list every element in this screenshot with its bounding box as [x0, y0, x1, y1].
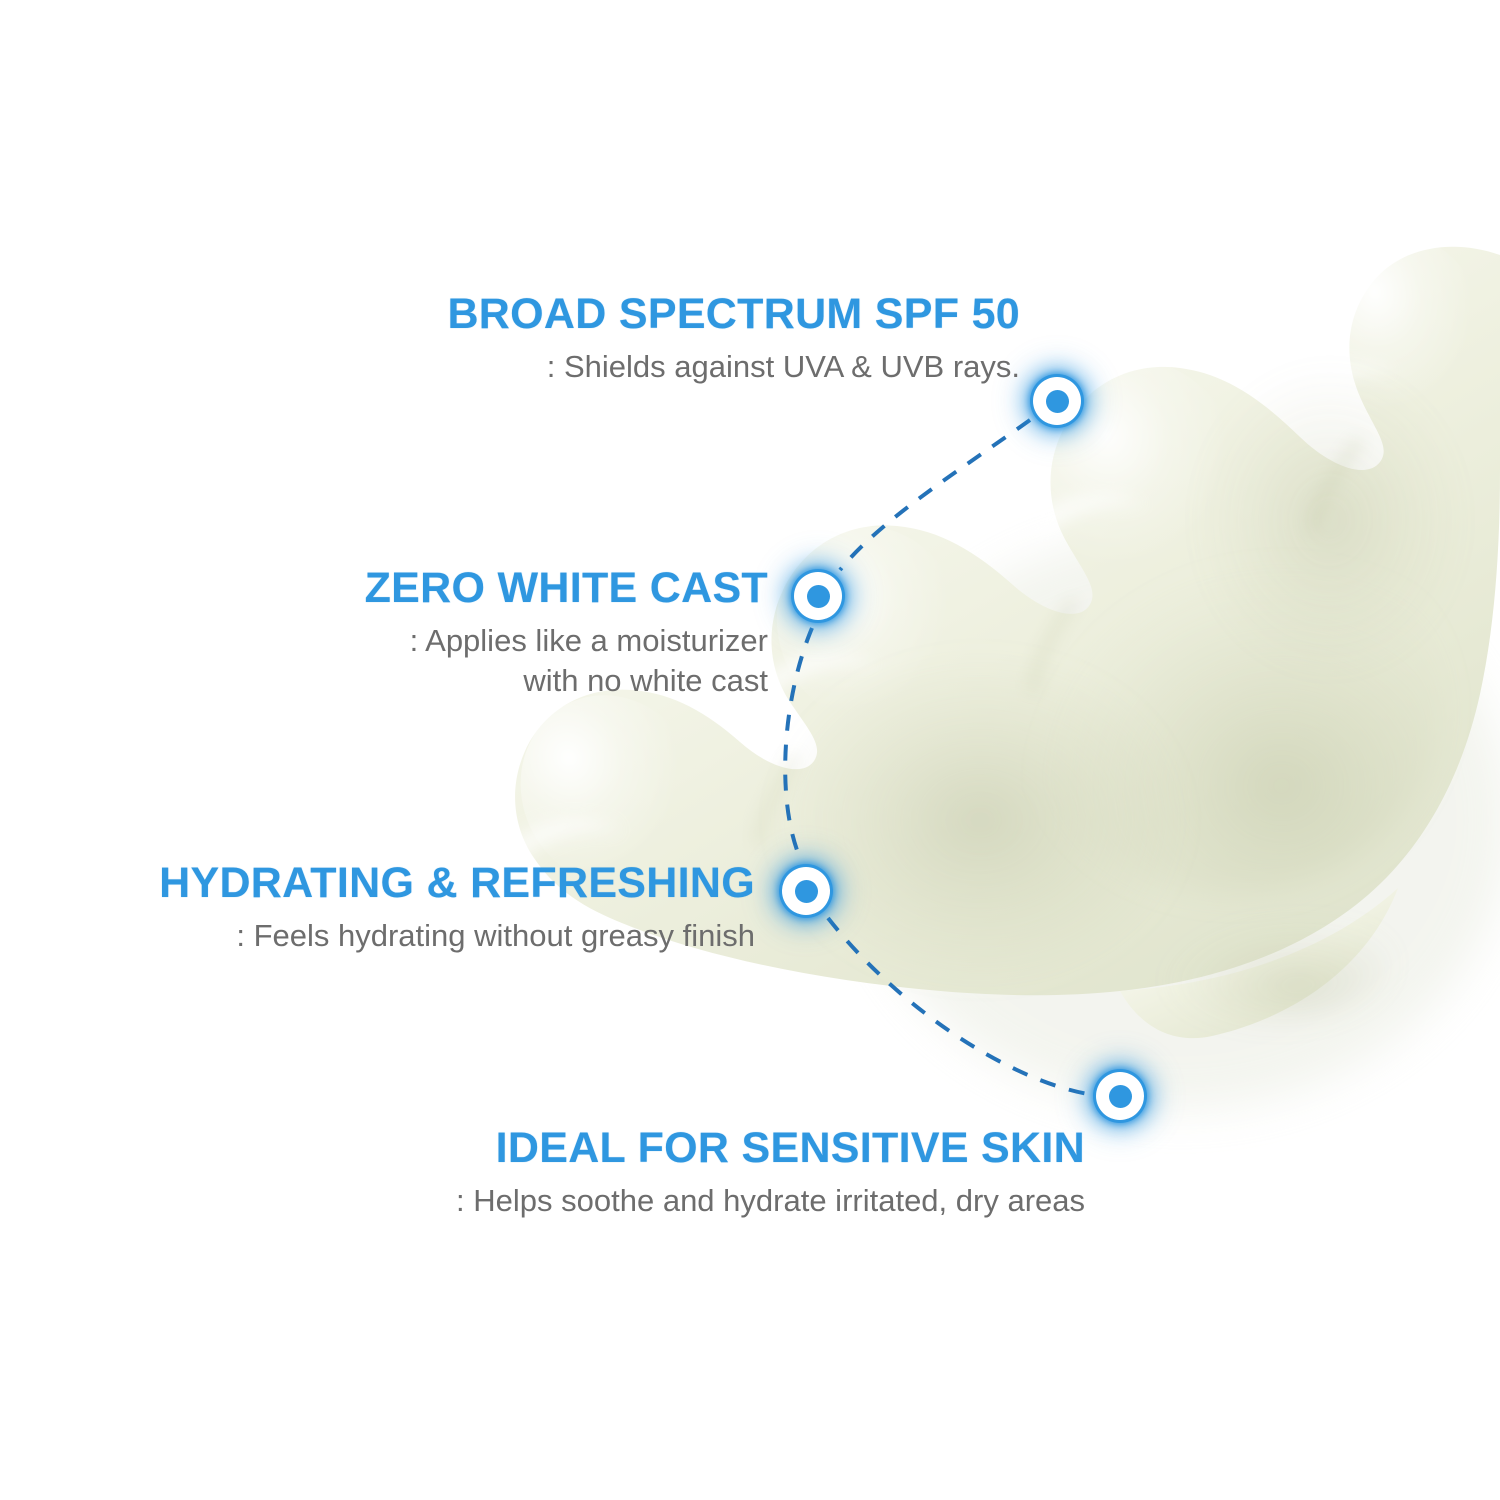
feature-subtitle-4: : Helps soothe and hydrate irritated, dr…: [140, 1181, 1085, 1221]
feature-subtitle-line-1-1: : Shields against UVA & UVB rays.: [140, 347, 1020, 387]
marker-core-icon-1: [1046, 390, 1069, 413]
feature-heading-1: BROAD SPECTRUM SPF 50: [140, 292, 1020, 338]
feature-subtitle-1: : Shields against UVA & UVB rays.: [140, 347, 1020, 387]
feature-marker-dot-1[interactable]: [1025, 369, 1089, 433]
feature-block-broad-spectrum-spf-50: BROAD SPECTRUM SPF 50 : Shields against …: [140, 292, 1020, 387]
marker-core-icon-4: [1109, 1085, 1132, 1108]
product-feature-infographic: BROAD SPECTRUM SPF 50 : Shields against …: [0, 0, 1500, 1500]
marker-core-icon-2: [807, 585, 830, 608]
feature-marker-dot-2[interactable]: [786, 564, 850, 628]
feature-subtitle-line-2-2: with no white cast: [140, 661, 768, 701]
feature-marker-dot-3[interactable]: [774, 859, 838, 923]
feature-subtitle-line-4-1: : Helps soothe and hydrate irritated, dr…: [140, 1181, 1085, 1221]
feature-heading-4: IDEAL FOR SENSITIVE SKIN: [140, 1126, 1085, 1172]
feature-block-zero-white-cast: ZERO WHITE CAST : Applies like a moistur…: [140, 566, 768, 701]
dashed-connector-path: [0, 0, 1500, 1500]
feature-block-ideal-for-sensitive-skin: IDEAL FOR SENSITIVE SKIN : Helps soothe …: [140, 1126, 1085, 1221]
marker-core-icon-3: [795, 880, 818, 903]
sunscreen-cream-swatch: [0, 0, 1500, 1500]
feature-subtitle-line-2-1: : Applies like a moisturizer: [140, 621, 768, 661]
feature-block-hydrating-and-refreshing: HYDRATING & REFRESHING : Feels hydrating…: [60, 861, 755, 956]
feature-subtitle-2: : Applies like a moisturizer with no whi…: [140, 621, 768, 702]
feature-heading-2: ZERO WHITE CAST: [140, 566, 768, 612]
feature-subtitle-3: : Feels hydrating without greasy finish: [60, 916, 755, 956]
feature-heading-3: HYDRATING & REFRESHING: [60, 861, 755, 907]
feature-subtitle-line-3-1: : Feels hydrating without greasy finish: [60, 916, 755, 956]
feature-marker-dot-4[interactable]: [1088, 1064, 1152, 1128]
